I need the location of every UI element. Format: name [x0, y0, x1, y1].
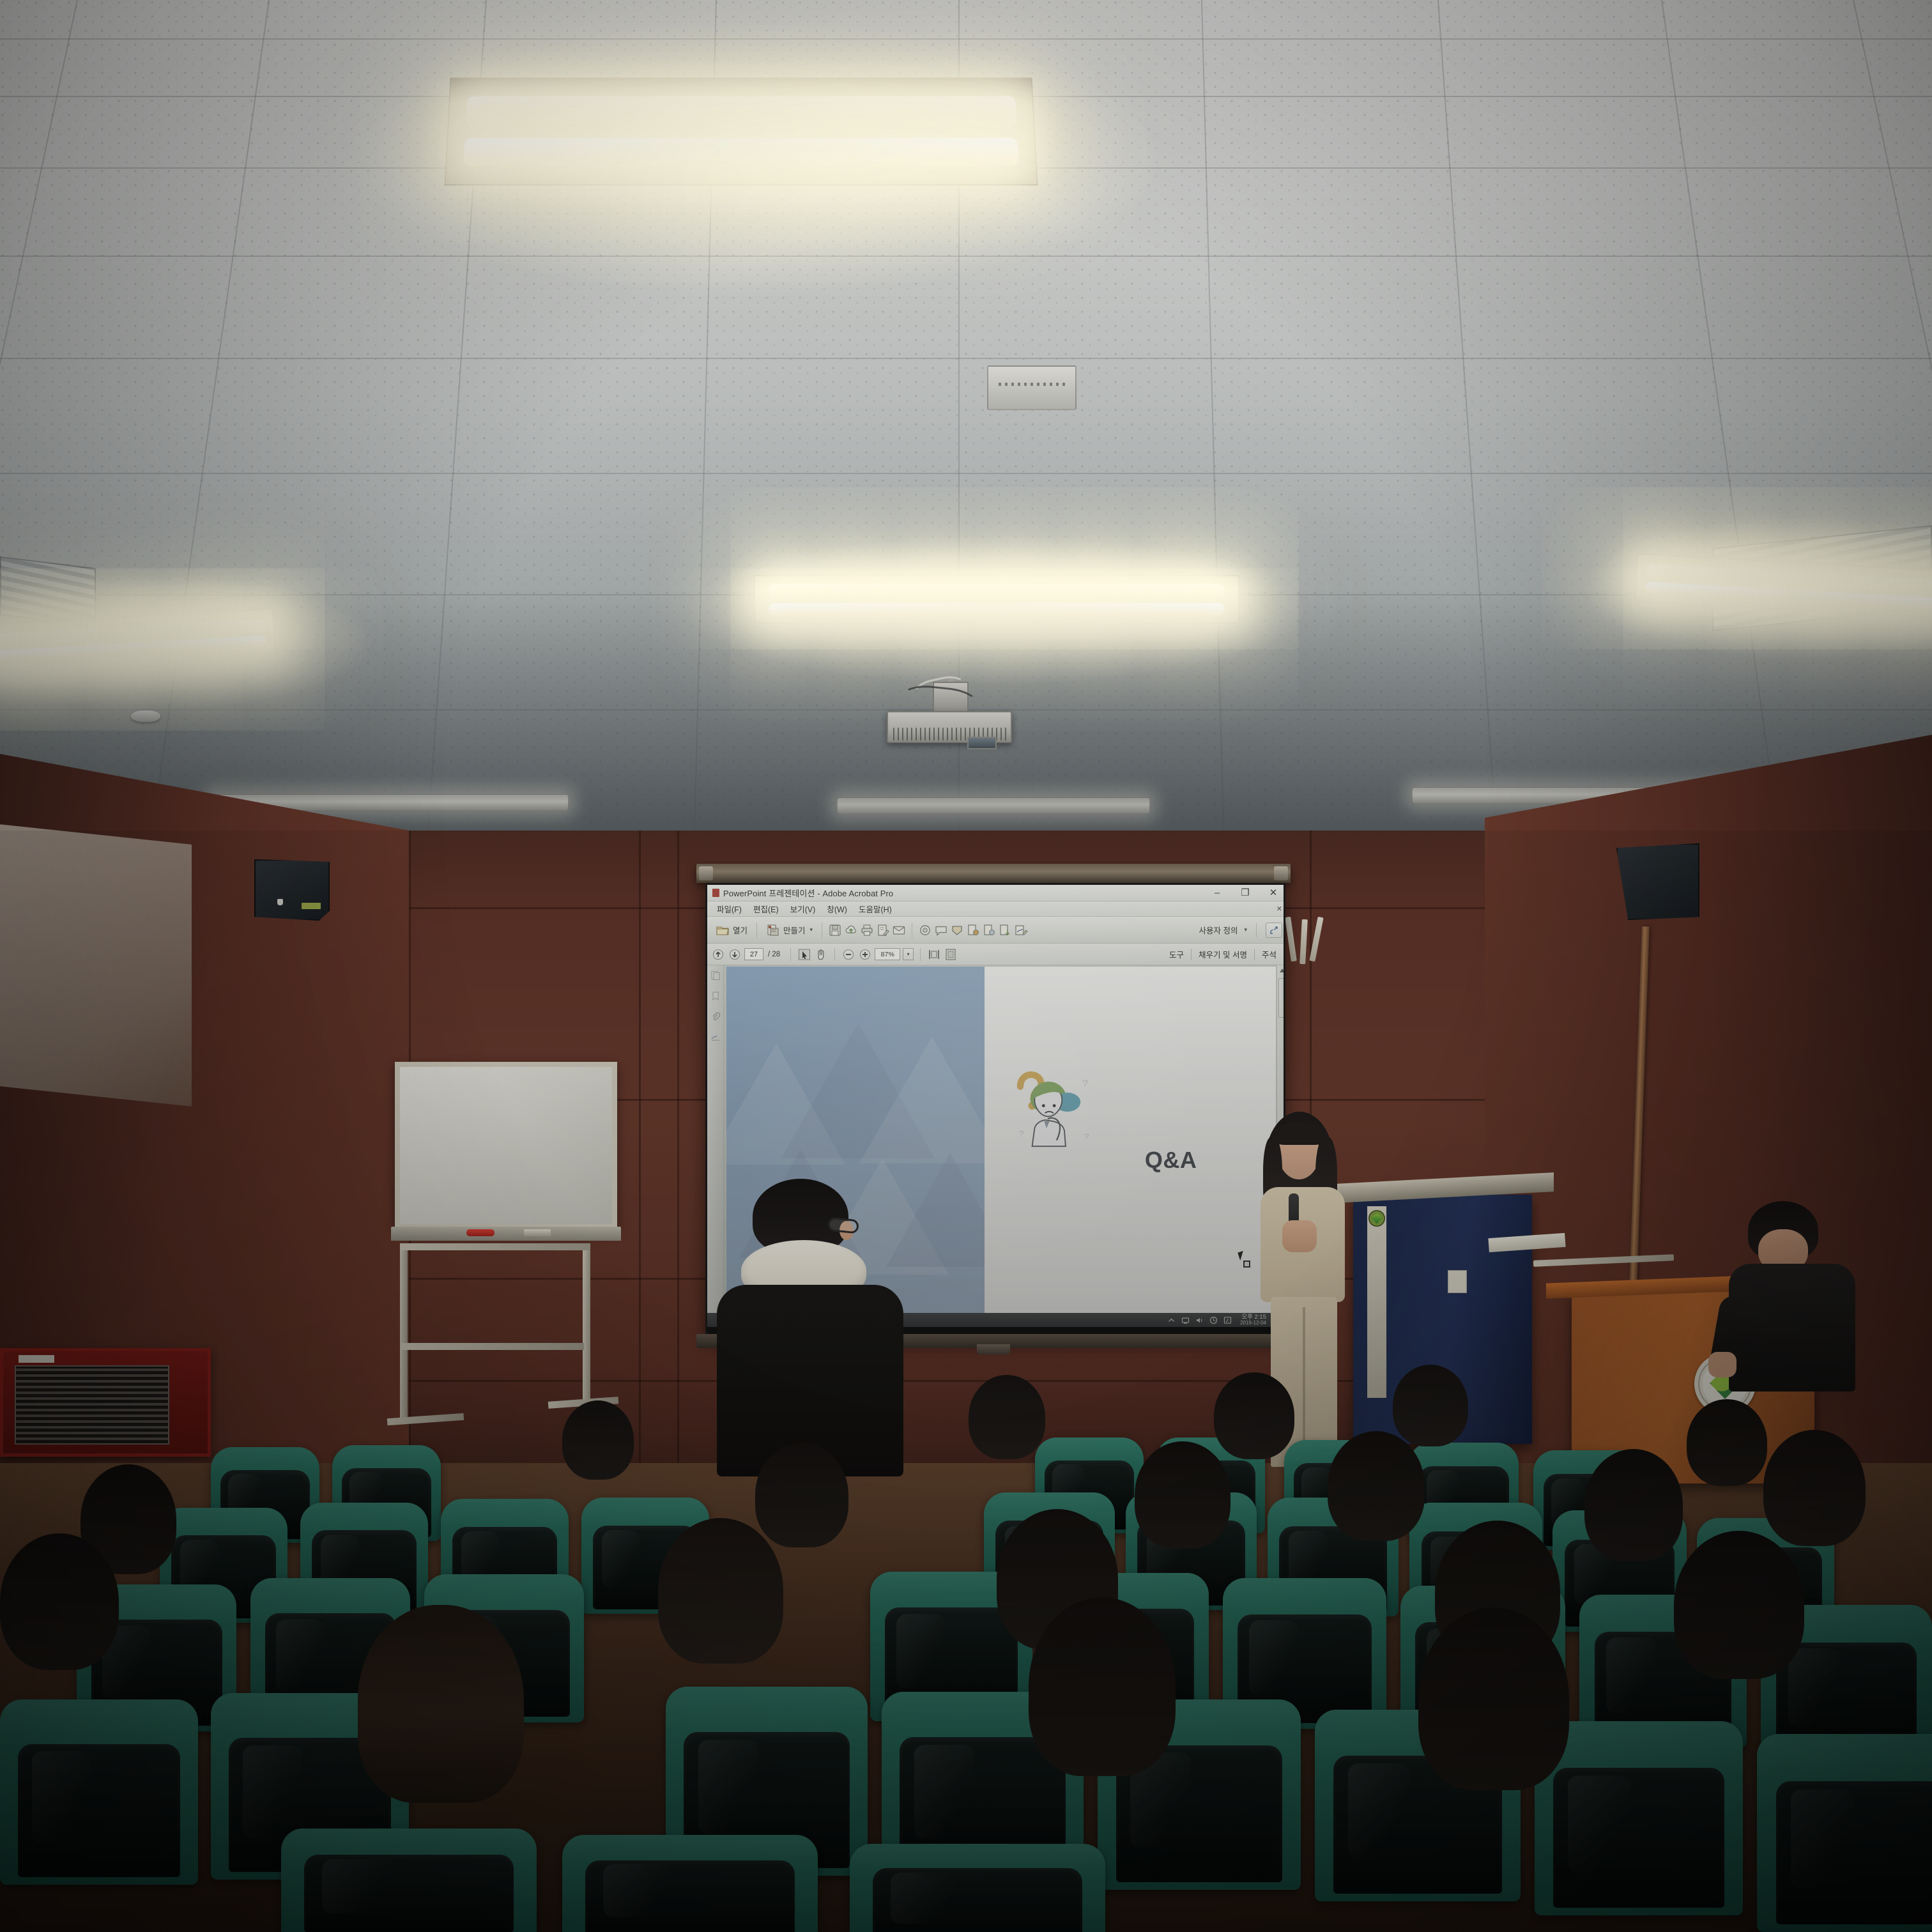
folder-open-icon [716, 923, 730, 937]
audience-member [658, 1518, 783, 1664]
mobile-whiteboard [391, 1062, 621, 1432]
chevron-down-icon: ▾ [810, 926, 813, 933]
fill-and-sign-tab[interactable]: 채우기 및 서명 [1192, 948, 1254, 960]
plus-circle-icon[interactable] [858, 947, 872, 962]
email-icon[interactable] [892, 923, 906, 937]
window-title: PowerPoint 프레젠테이션 - Adobe Acrobat Pro [723, 887, 893, 899]
expand-toolbar-button[interactable] [1266, 923, 1282, 938]
comment-tab[interactable]: 주석 [1255, 948, 1284, 960]
right-tool-tabs: 도구 채우기 및 서명 주석 [1162, 948, 1284, 960]
audience-member [1584, 1449, 1683, 1561]
left-wall-pale-panel [0, 823, 192, 1107]
ceiling-light-main [444, 77, 1038, 185]
comment-bubble-icon[interactable] [934, 923, 948, 937]
fit-width-icon[interactable] [927, 947, 941, 962]
arrow-up-icon[interactable] [711, 947, 725, 962]
chevron-up-icon[interactable] [1167, 1316, 1176, 1324]
svg-text:?: ? [1019, 1129, 1023, 1138]
create-button[interactable]: 만들기 ▾ [763, 921, 816, 939]
audience-member [0, 1533, 119, 1670]
svg-text:?: ? [1085, 1132, 1089, 1141]
highlight-icon[interactable] [950, 923, 964, 937]
fit-page-icon[interactable] [944, 947, 958, 962]
signature-icon[interactable] [1014, 923, 1028, 937]
ime-icon[interactable] [1223, 1316, 1232, 1324]
add-note-icon[interactable] [966, 923, 980, 937]
zoom-level-input[interactable]: 87% [875, 948, 900, 960]
auditorium-scene: PowerPoint 프레젠테이션 - Adobe Acrobat Pro – … [0, 0, 1932, 1932]
whiteboard-tray [391, 1227, 621, 1241]
audience-member [969, 1375, 1045, 1459]
zoom-dropdown-caret-icon[interactable]: ▾ [903, 948, 914, 960]
customize-chevron-down-icon: ▾ [1244, 926, 1247, 933]
thinking-person-question-mark-icon: ? ? ? ? [1011, 1064, 1100, 1160]
print-icon[interactable] [860, 923, 874, 937]
ceiling [0, 0, 1932, 856]
audience-member [358, 1605, 524, 1803]
seated-attendant-at-lectern [1725, 1201, 1859, 1393]
attachments-icon[interactable] [710, 1011, 721, 1022]
audience-member [1687, 1399, 1767, 1486]
cloud-upload-icon[interactable] [844, 923, 858, 937]
save-icon[interactable] [828, 923, 842, 937]
customize-label[interactable]: 사용자 정의 [1199, 924, 1238, 936]
create-label: 만들기 [783, 924, 806, 936]
acrobat-icon [712, 889, 719, 897]
wall-heater-unit [0, 1348, 211, 1457]
whiteboard-marker[interactable] [466, 1229, 494, 1236]
main-toolbar: 열기 만들기 ▾ [707, 917, 1285, 944]
volume-icon[interactable] [1195, 1316, 1204, 1324]
current-page-input[interactable]: 27 [744, 948, 763, 960]
audience-member [562, 1400, 634, 1480]
audience-member [1328, 1431, 1425, 1541]
network-icon[interactable] [1181, 1316, 1190, 1324]
wall-speaker-right [1616, 843, 1699, 920]
edit-pdf-icon[interactable] [876, 923, 890, 937]
svg-text:?: ? [1082, 1078, 1088, 1089]
university-emblem [1368, 1210, 1385, 1227]
audience-member [1029, 1597, 1176, 1776]
attach-icon[interactable] [982, 923, 996, 937]
audience-member [1393, 1365, 1468, 1446]
ceiling-vent [987, 365, 1077, 410]
podium-outlet [1448, 1270, 1467, 1293]
close-document-button[interactable]: ✕ [1276, 905, 1282, 913]
window-titlebar: PowerPoint 프레젠테이션 - Adobe Acrobat Pro – … [707, 885, 1285, 901]
minimize-button[interactable]: – [1203, 885, 1231, 901]
menu-window[interactable]: 창(W) [821, 903, 853, 915]
audience-member [1214, 1372, 1294, 1459]
audience-member [1674, 1531, 1804, 1679]
page-thumbnails-icon[interactable] [710, 970, 721, 981]
hand-icon[interactable] [814, 947, 828, 962]
standing-student-front [721, 1179, 900, 1473]
projection-screen-roller [696, 864, 1291, 883]
maximize-button[interactable]: ❐ [1231, 885, 1259, 901]
select-cursor-icon[interactable] [797, 947, 811, 962]
arrow-down-icon[interactable] [728, 947, 742, 962]
bookmarks-icon[interactable] [710, 991, 721, 1001]
whiteboard-surface[interactable] [395, 1062, 617, 1229]
slide-content-panel: ? ? ? ? [985, 967, 1276, 1313]
menu-bar: 파일(F) 편집(E) 보기(V) 창(W) 도움말(H) ✕ [707, 901, 1285, 917]
audience-member [1418, 1607, 1569, 1790]
scrollbar-thumb[interactable] [1278, 978, 1285, 1018]
wall-hook-hanger [1284, 917, 1339, 981]
onedrive-icon[interactable] [1209, 1316, 1218, 1324]
open-button[interactable]: 열기 [712, 921, 751, 939]
create-pdf-icon [766, 923, 780, 937]
menu-file[interactable]: 파일(F) [711, 903, 747, 915]
signatures-icon[interactable] [710, 1032, 721, 1042]
page-total-label: / 28 [768, 951, 780, 958]
audience-member [1763, 1430, 1866, 1546]
menu-help[interactable]: 도움말(H) [853, 903, 898, 915]
menu-view[interactable]: 보기(V) [785, 903, 822, 915]
tools-tab[interactable]: 도구 [1162, 948, 1191, 960]
menu-edit[interactable]: 편집(E) [747, 903, 785, 915]
wall-speaker-left [254, 859, 330, 921]
export-icon[interactable] [998, 923, 1012, 937]
stamp-icon[interactable] [918, 923, 932, 937]
whiteboard-eraser[interactable] [524, 1229, 551, 1236]
audience-member [1135, 1441, 1230, 1549]
audience-member [755, 1443, 848, 1547]
close-button[interactable]: ✕ [1259, 885, 1285, 901]
open-label: 열기 [733, 924, 747, 936]
minus-circle-icon[interactable] [841, 947, 855, 962]
page-navigation-toolbar: 27 / 28 87% ▾ [707, 944, 1285, 965]
slide-heading: Q&A [1145, 1147, 1197, 1174]
